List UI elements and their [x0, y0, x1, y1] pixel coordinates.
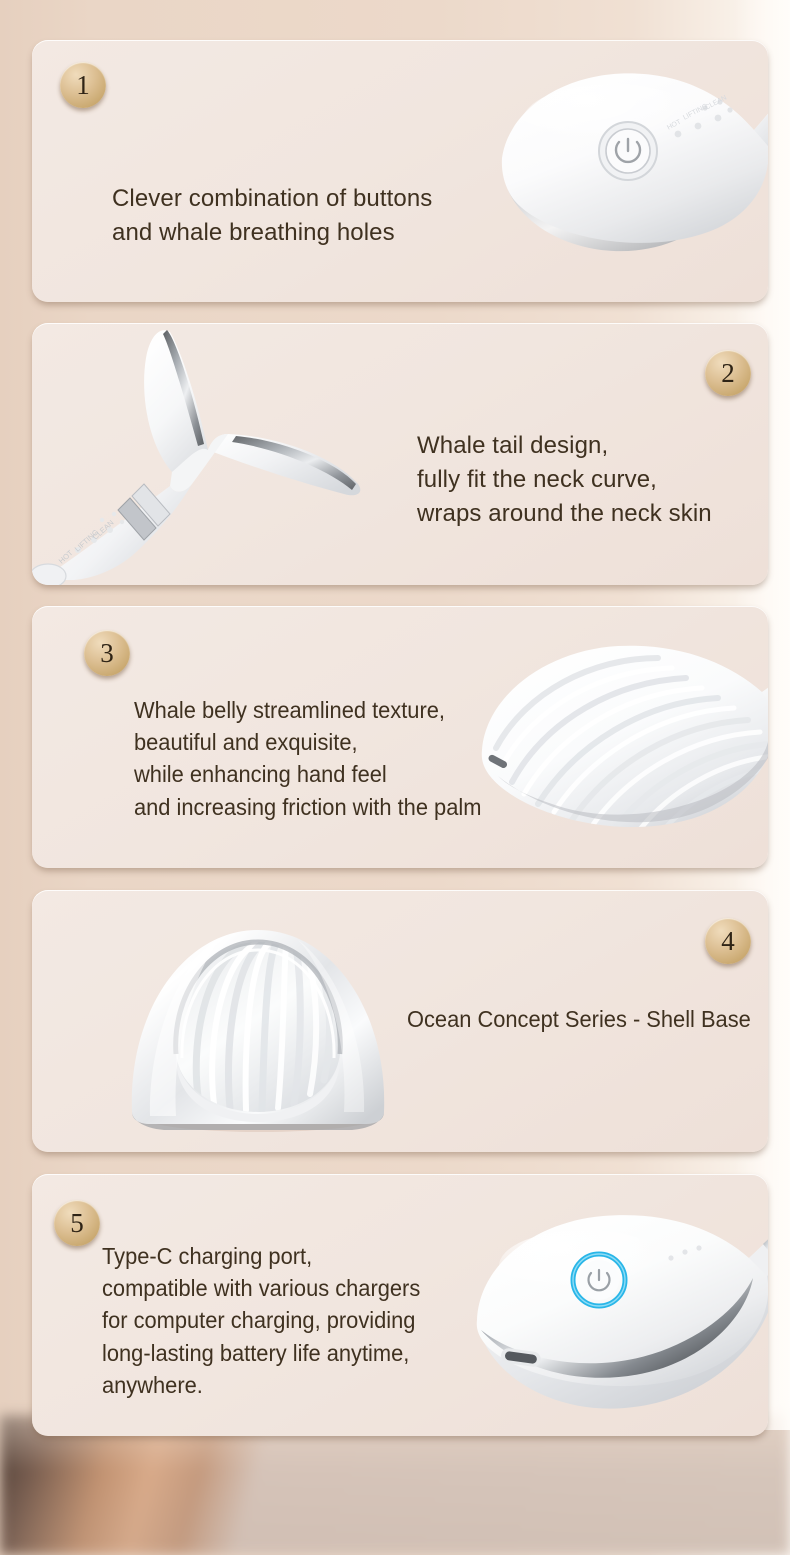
whale-device-type-c-port-image [457, 1174, 768, 1436]
card-1-number-badge: 1 [60, 62, 106, 108]
card-5-number-badge: 5 [54, 1200, 100, 1246]
card-3-text: Whale belly streamlined texture, beautif… [134, 694, 534, 823]
card-1-text: Clever combination of buttons and whale … [112, 182, 542, 250]
card-5-text: Type-C charging port, compatible with va… [102, 1240, 493, 1401]
card-4-number-badge: 4 [705, 918, 751, 964]
blurred-photo-background [0, 1415, 790, 1555]
card-2-number-badge: 2 [705, 350, 751, 396]
whale-device-power-button-image: HOT LIFTING CLEAN [472, 40, 768, 302]
feature-card-2: HOT LIFTING CLEAN 2 Whale tail design, f… [32, 323, 768, 585]
feature-card-4: 4 Ocean Concept Series - Shell Base [32, 890, 768, 1152]
feature-card-3: 3 Whale belly streamlined texture, beaut… [32, 606, 768, 868]
card-4-text: Ocean Concept Series - Shell Base [407, 1003, 760, 1035]
card-2-text: Whale tail design, fully fit the neck cu… [417, 429, 767, 531]
shell-charging-base-image [98, 916, 418, 1142]
card-3-number-badge: 3 [84, 630, 130, 676]
feature-card-5: 5 Type-C charging port, compatible with … [32, 1174, 768, 1436]
whale-tail-head-image: HOT LIFTING CLEAN [32, 323, 422, 585]
feature-card-1: HOT LIFTING CLEAN 1 Clever combination o… [32, 40, 768, 302]
